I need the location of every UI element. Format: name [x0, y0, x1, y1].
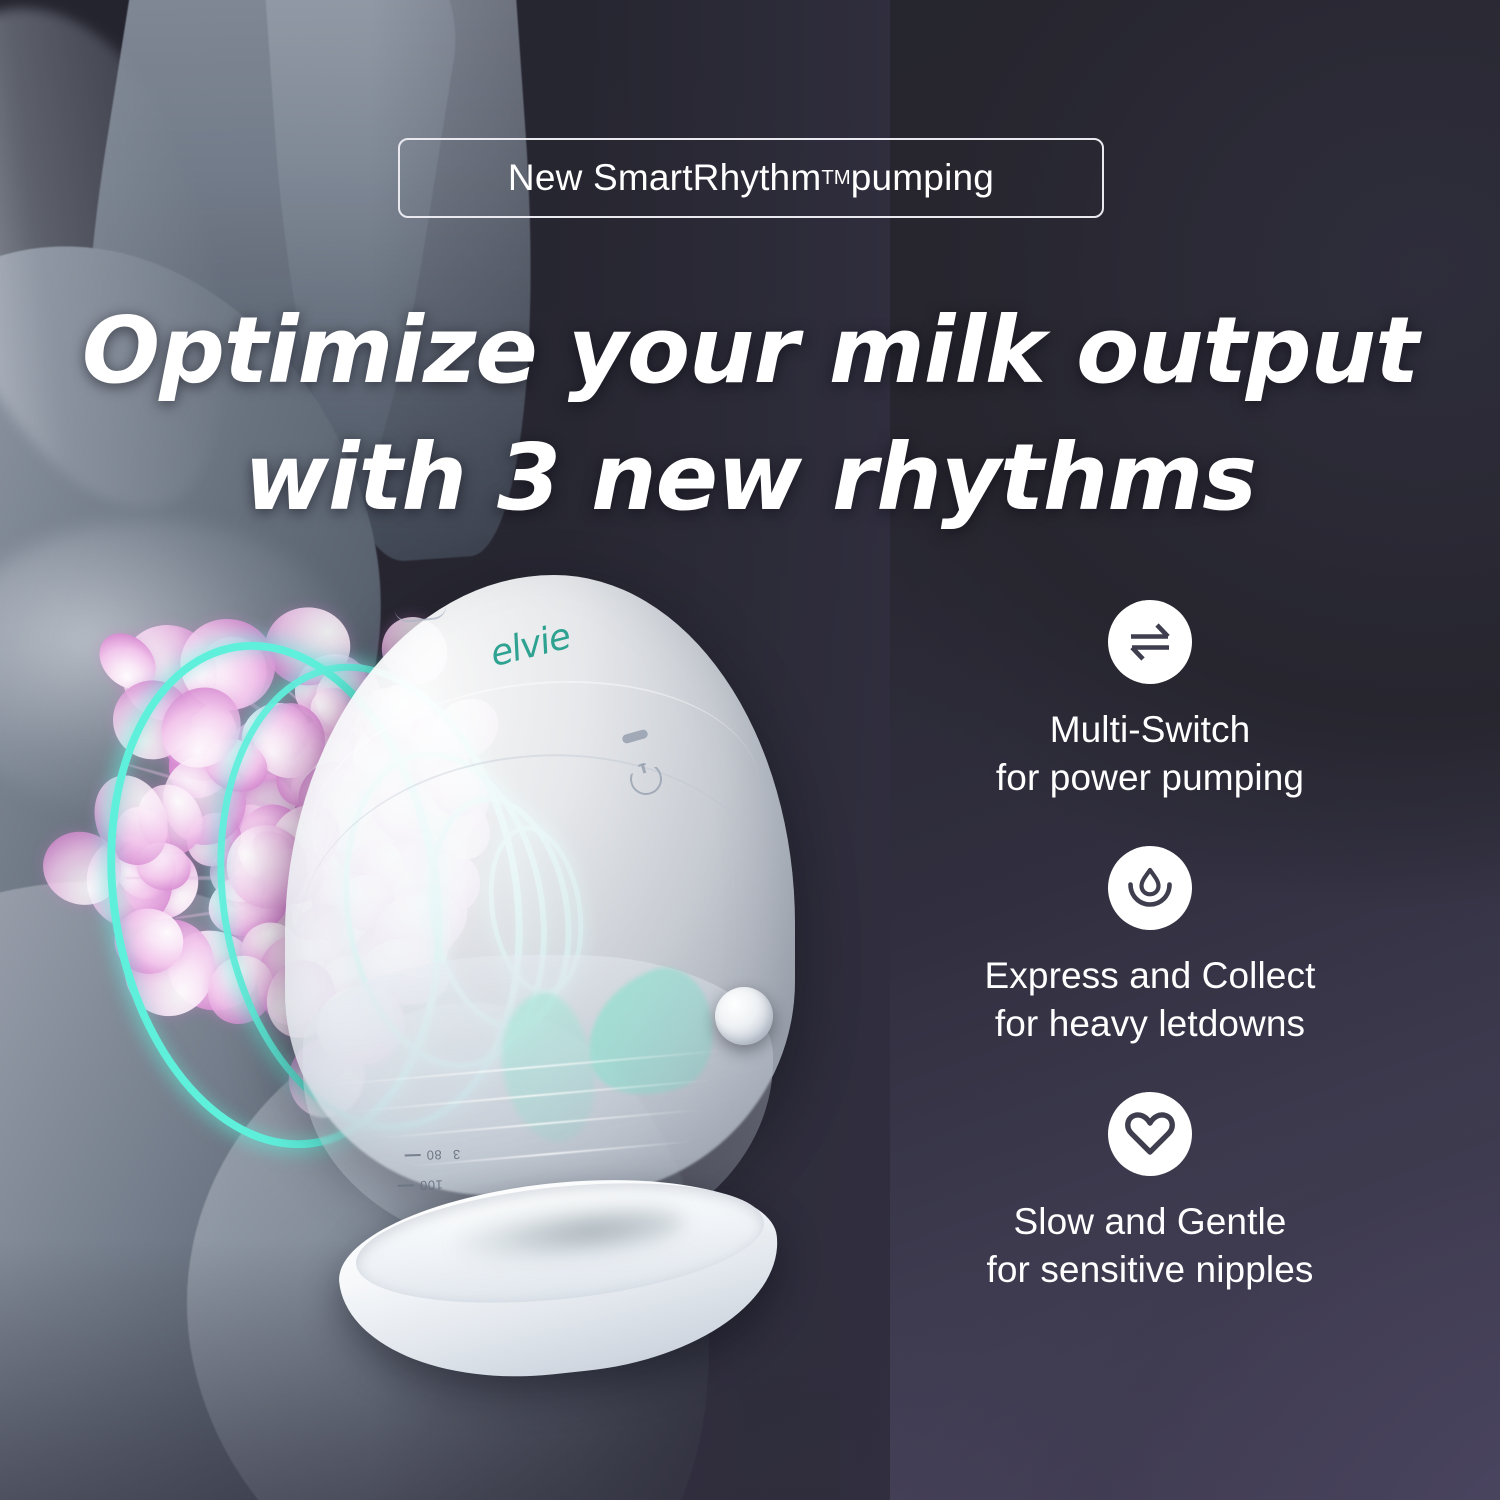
bottle-scale-oz: 3 — [453, 1147, 461, 1162]
headline-line-1: Optimize your milk output — [82, 297, 1418, 404]
badge-text-after: pumping — [851, 157, 994, 199]
trademark-symbol: TM — [821, 167, 850, 190]
feature-line-2: for sensitive nipples — [910, 1246, 1390, 1294]
pump-side-button — [715, 987, 773, 1045]
page-title: Optimize your milk output with 3 new rhy… — [0, 288, 1500, 542]
feature-line-1: Slow and Gentle — [910, 1198, 1390, 1246]
feature-list: Multi-Switch for power pumping Express a… — [910, 600, 1390, 1339]
scale-tick — [398, 1184, 414, 1186]
breast-pump-product: elvie 100 80 3 — [285, 575, 825, 1295]
heart-outline-icon — [1108, 1092, 1192, 1176]
feature-text-multi-switch: Multi-Switch for power pumping — [910, 706, 1390, 802]
feature-item-multi-switch: Multi-Switch for power pumping — [910, 600, 1390, 802]
feature-line-1: Multi-Switch — [910, 706, 1390, 754]
headline-line-2: with 3 new rhythms — [0, 415, 1500, 542]
scale-value-80: 80 — [426, 1139, 443, 1170]
droplet-in-cup-icon — [1108, 846, 1192, 930]
swap-arrows-icon — [1108, 600, 1192, 684]
feature-item-express-and-collect: Express and Collect for heavy letdowns — [910, 846, 1390, 1048]
bottle-scale-ml: 100 80 — [396, 1139, 443, 1201]
feature-text-slow-and-gentle: Slow and Gentle for sensitive nipples — [910, 1198, 1390, 1294]
feature-text-express-and-collect: Express and Collect for heavy letdowns — [910, 952, 1390, 1048]
feature-line-1: Express and Collect — [910, 952, 1390, 1000]
scale-value-100: 100 — [419, 1169, 443, 1200]
feature-line-2: for heavy letdowns — [910, 1000, 1390, 1048]
badge-text-before: New SmartRhythm — [508, 157, 821, 199]
smartrhythm-badge: New SmartRhythmTM pumping — [398, 138, 1104, 218]
feature-line-2: for power pumping — [910, 754, 1390, 802]
scale-tick — [404, 1154, 420, 1156]
feature-item-slow-and-gentle: Slow and Gentle for sensitive nipples — [910, 1092, 1390, 1294]
promo-image-stage: elvie 100 80 3 New SmartRhythmTM pumping… — [0, 0, 1500, 1500]
